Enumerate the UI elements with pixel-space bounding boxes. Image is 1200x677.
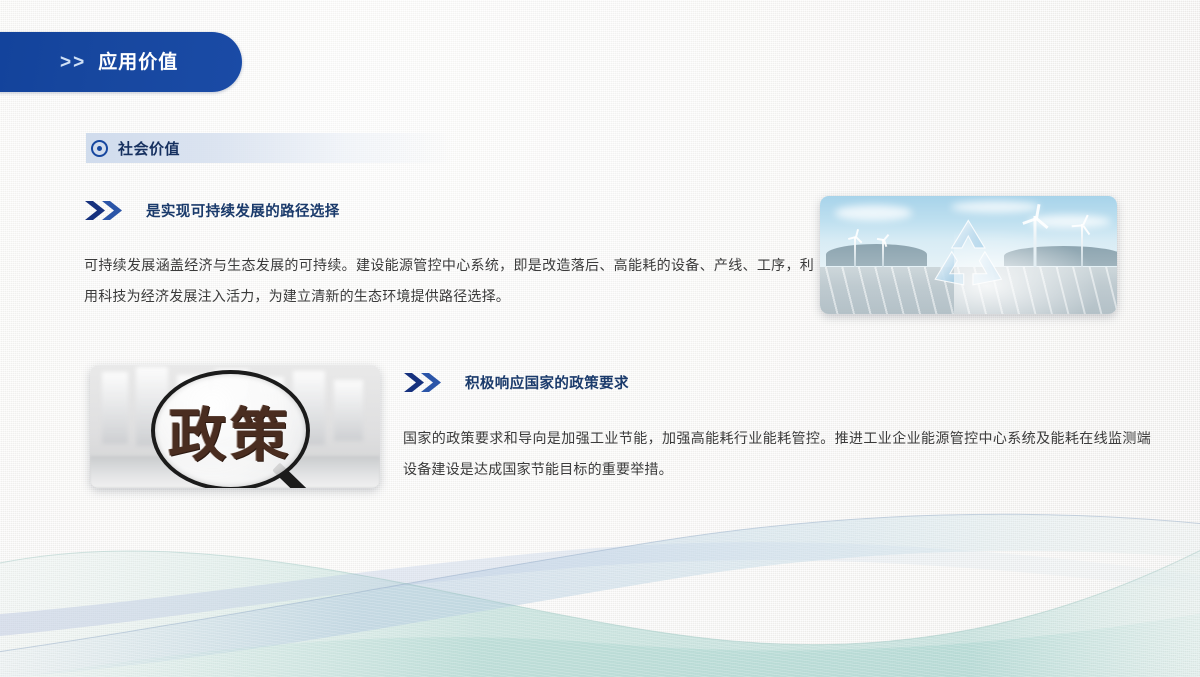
block-1-heading: 是实现可持续发展的路径选择	[84, 200, 340, 221]
target-circle-icon	[91, 140, 108, 157]
block-2-heading-text: 积极响应国家的政策要求	[465, 372, 629, 393]
section-header: 社会价值	[86, 133, 452, 163]
policy-photo-text: 政策	[155, 388, 306, 472]
banner-title: 应用价值	[98, 53, 178, 72]
slide-canvas: >> 应用价值 社会价值 是实现可持续发展的路径选择 可持续发展涵盖经济与生态发…	[0, 0, 1200, 677]
double-chevron-icon	[84, 200, 124, 221]
section-title: 社会价值	[118, 138, 180, 159]
block-1-heading-text: 是实现可持续发展的路径选择	[146, 200, 340, 221]
block-2-heading: 积极响应国家的政策要求	[403, 372, 629, 393]
block-1-body: 可持续发展涵盖经济与生态发展的可持续。建设能源管控中心系统，即是改造落后、高能耗…	[84, 250, 814, 312]
section-banner: >> 应用价值	[0, 32, 242, 92]
wind-farm-recycling-photo	[820, 196, 1117, 314]
double-chevron-icon	[403, 372, 443, 393]
double-arrow-icon: >>	[60, 53, 86, 72]
policy-magnifier-photo: 政策	[90, 365, 380, 488]
block-2-body: 国家的政策要求和导向是加强工业节能，加强高能耗行业能耗管控。推进工业企业能源管控…	[403, 423, 1151, 485]
